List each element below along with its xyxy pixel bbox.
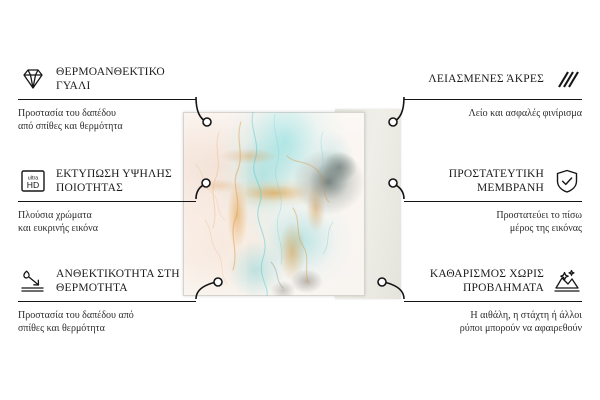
feature-description: Η αιθάλη, η στάχτη ή άλλοιρύποι μπορούν … [404,309,582,335]
feature-divider [18,301,196,302]
feature-divider [404,201,582,202]
ultra-hd-icon: ultra HD [18,167,48,195]
feature-heat-glass: ΘΕΡΜΟΑΝΘΕΚΤΙΚΟ ΓΥΑΛΙ Προστασία του δαπέδ… [18,62,196,133]
feature-divider [18,201,196,202]
product-glass-panel [183,112,365,296]
feature-title: ΚΑΘΑΡΙΣΜΟΣ ΧΩΡΙΣ ΠΡΟΒΛΗΜΑΤΑ [404,267,544,295]
feature-title: ΕΚΤΥΠΩΣΗ ΥΨΗΛΗΣ ΠΟΙΟΤΗΤΑΣ [56,167,196,195]
svg-text:HD: HD [27,180,39,190]
flame-deflect-icon [18,267,48,295]
feature-title: ΘΕΡΜΟΑΝΘΕΚΤΙΚΟ ΓΥΑΛΙ [56,65,196,93]
feature-print-quality: ultra HD ΕΚΤΥΠΩΣΗ ΥΨΗΛΗΣ ΠΟΙΟΤΗΤΑΣ Πλούσ… [18,164,196,235]
feature-divider [404,301,582,302]
feature-title: ΑΝΘΕΚΤΙΚΟΤΗΤΑ ΣΤΗ ΘΕΡΜΟΤΗΤΑ [56,267,196,295]
diamond-icon [18,65,48,93]
product-feature-infographic: ΘΕΡΜΟΑΝΘΕΚΤΙΚΟ ΓΥΑΛΙ Προστασία του δαπέδ… [0,0,600,400]
wipe-sparkle-icon [552,267,582,295]
feature-divider [404,99,582,100]
feature-easy-cleaning: ΚΑΘΑΡΙΣΜΟΣ ΧΩΡΙΣ ΠΡΟΒΛΗΜΑΤΑ Η αιθάλη, η … [404,264,582,335]
diagonal-lines-icon [552,65,582,93]
feature-protective-film: ΠΡΟΣΤΑΤΕΥΤΙΚΗ ΜΕΜΒΡΑΝΗ Προστατεύει το πί… [404,164,582,235]
feature-heat-resistance: ΑΝΘΕΚΤΙΚΟΤΗΤΑ ΣΤΗ ΘΕΡΜΟΤΗΤΑ Προστασία το… [18,264,196,335]
feature-title: ΛΕΙΑΣΜΕΝΕΣ ΆΚΡΕΣ [428,72,544,86]
feature-title: ΠΡΟΣΤΑΤΕΥΤΙΚΗ ΜΕΜΒΡΑΝΗ [404,167,544,195]
feature-description: Λείο και ασφαλές φινίρισμα [404,107,582,120]
feature-description: Προστατεύει το πίσωμέρος της εικόνας [404,209,582,235]
feature-description: Προστασία του δαπέδουαπό σπίθες και θερμ… [18,107,196,133]
feature-smooth-edges: ΛΕΙΑΣΜΕΝΕΣ ΆΚΡΕΣ Λείο και ασφαλές φινίρι… [404,62,582,120]
feature-description: Πλούσια χρώματακαι ευκρινής εικόνα [18,209,196,235]
product-image [183,112,398,296]
feature-divider [18,99,196,100]
shield-check-icon [552,167,582,195]
feature-description: Προστασία του δαπέδου απόσπίθες και θερμ… [18,309,196,335]
glass-border [183,112,365,296]
